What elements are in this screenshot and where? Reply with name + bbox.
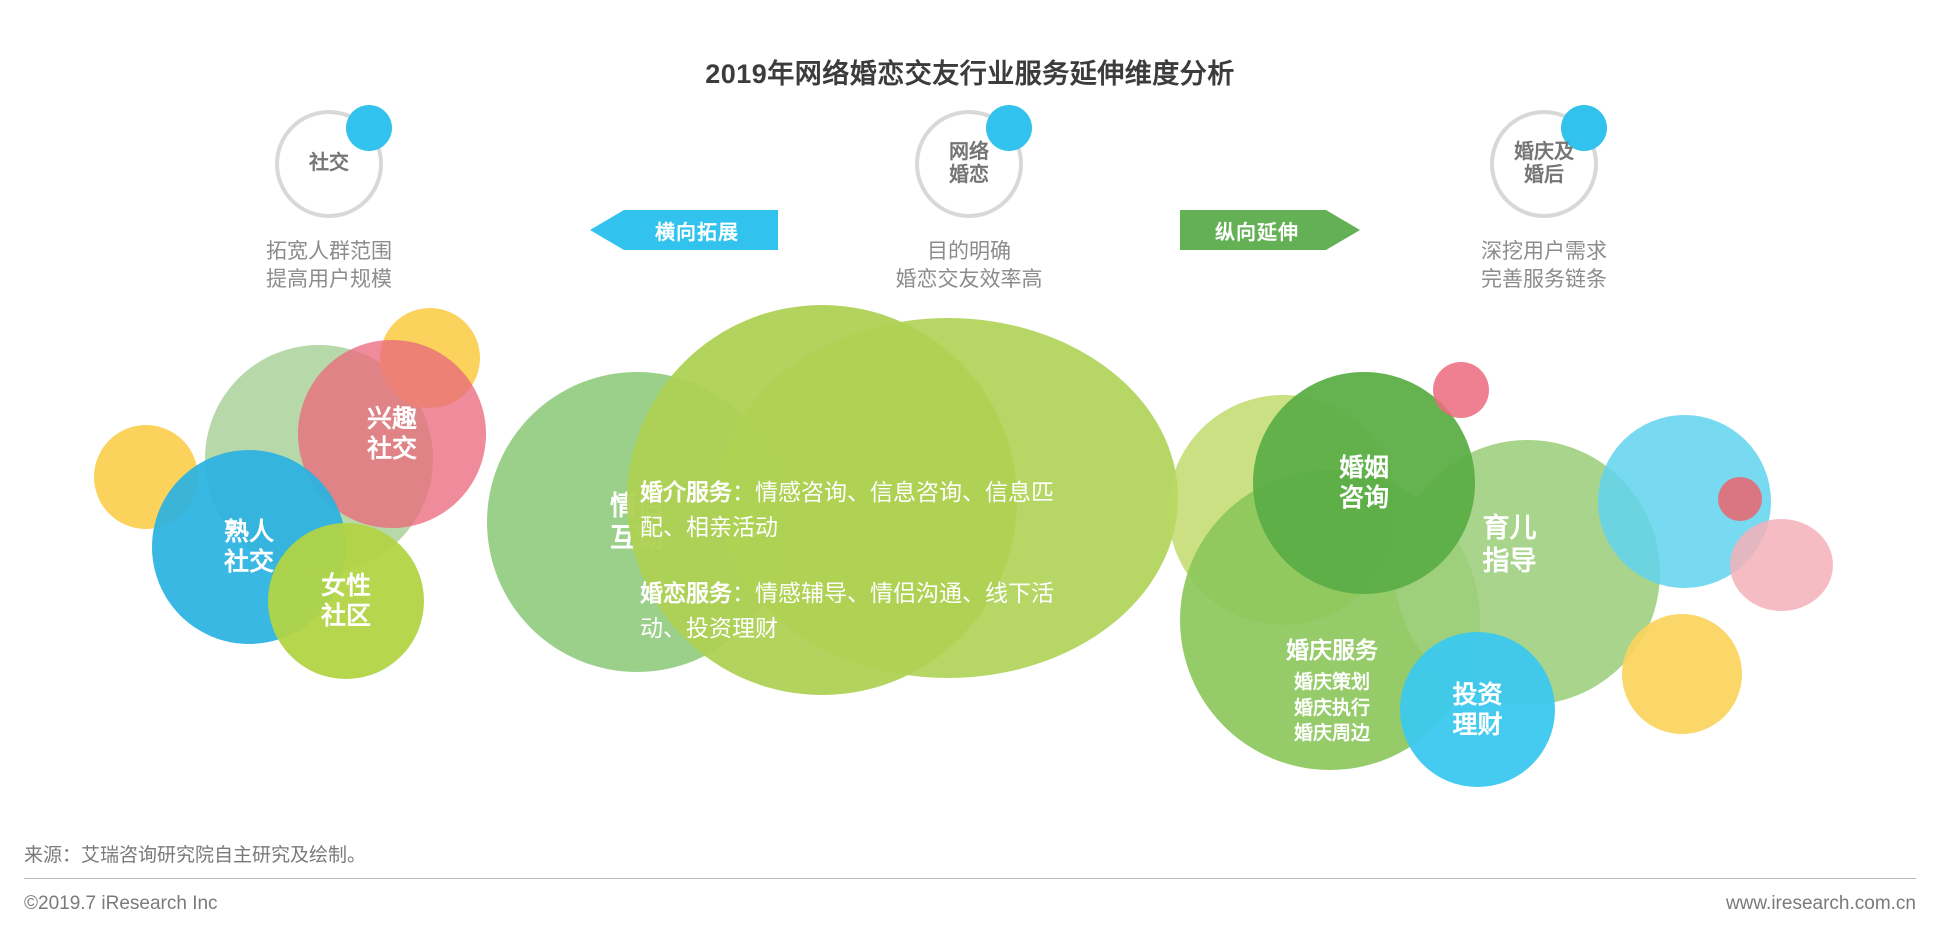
pillar-wedding-post-label: 婚庆及 婚后: [1490, 110, 1598, 218]
pillar-online-matchmaking-caption: 目的明确 婚恋交友效率高: [896, 238, 1043, 295]
arrow-vertical-extension-label: 纵向延伸: [1215, 216, 1299, 245]
decor-bubble-pink-pale: [1730, 519, 1833, 611]
website-link[interactable]: www.iresearch.com.cn: [1726, 893, 1916, 915]
wedding-services-item-3: 婚庆周边: [1212, 721, 1452, 747]
arrow-vertical-extension[interactable]: 纵向延伸: [1180, 210, 1360, 250]
pillar-wedding-post[interactable]: 婚庆及 婚后 深挖用户需求 完善服务链条: [1490, 110, 1598, 218]
decor-bubble-yellow-right: [1622, 614, 1742, 734]
arrow-horizontal-expansion[interactable]: 横向拓展: [590, 210, 778, 250]
arrow-horizontal-expansion-label: 横向拓展: [655, 216, 739, 245]
wedding-services-heading: 婚庆服务: [1212, 636, 1452, 666]
footer-divider: [24, 878, 1916, 879]
pillar-online-matchmaking[interactable]: 网络 婚恋 目的明确 婚恋交友效率高: [915, 110, 1023, 218]
wedding-services-text: 婚庆服务 婚庆策划 婚庆执行 婚庆周边: [1212, 636, 1452, 747]
pillar-wedding-post-caption: 深挖用户需求 完善服务链条: [1481, 238, 1607, 295]
pillar-social-label: 社交: [275, 110, 383, 218]
source-note: 来源：艾瑞咨询研究院自主研究及绘制。: [24, 840, 366, 867]
bubble-women-community-text: 女性 社区: [268, 523, 424, 679]
core-services-text: 婚介服务：情感咨询、信息咨询、信息匹配、相亲活动 婚恋服务：情感辅导、情侣沟通、…: [640, 475, 1070, 645]
decor-bubble-red-tiny: [1718, 477, 1762, 521]
infographic-canvas: 2019年网络婚恋交友行业服务延伸维度分析 兴趣 社交 熟人 社交 女性 社区 …: [0, 0, 1940, 932]
pillar-social[interactable]: 社交 拓宽人群范围 提高用户规模: [275, 110, 383, 218]
core-services-paragraph-matchmaking: 婚介服务：情感咨询、信息咨询、信息匹配、相亲活动: [640, 475, 1070, 544]
copyright: ©2019.7 iResearch Inc: [24, 893, 218, 915]
bubble-women-community[interactable]: 女性 社区: [268, 523, 424, 679]
wedding-services-item-2: 婚庆执行: [1212, 696, 1452, 722]
pillar-online-matchmaking-label: 网络 婚恋: [915, 110, 1023, 218]
page-title: 2019年网络婚恋交友行业服务延伸维度分析: [0, 52, 1940, 91]
pillar-social-caption: 拓宽人群范围 提高用户规模: [266, 238, 392, 295]
wedding-services-item-1: 婚庆策划: [1212, 670, 1452, 696]
core-services-paragraph-romance: 婚恋服务：情感辅导、情侣沟通、线下活动、投资理财: [640, 576, 1070, 645]
decor-bubble-pink-small: [1433, 362, 1489, 418]
